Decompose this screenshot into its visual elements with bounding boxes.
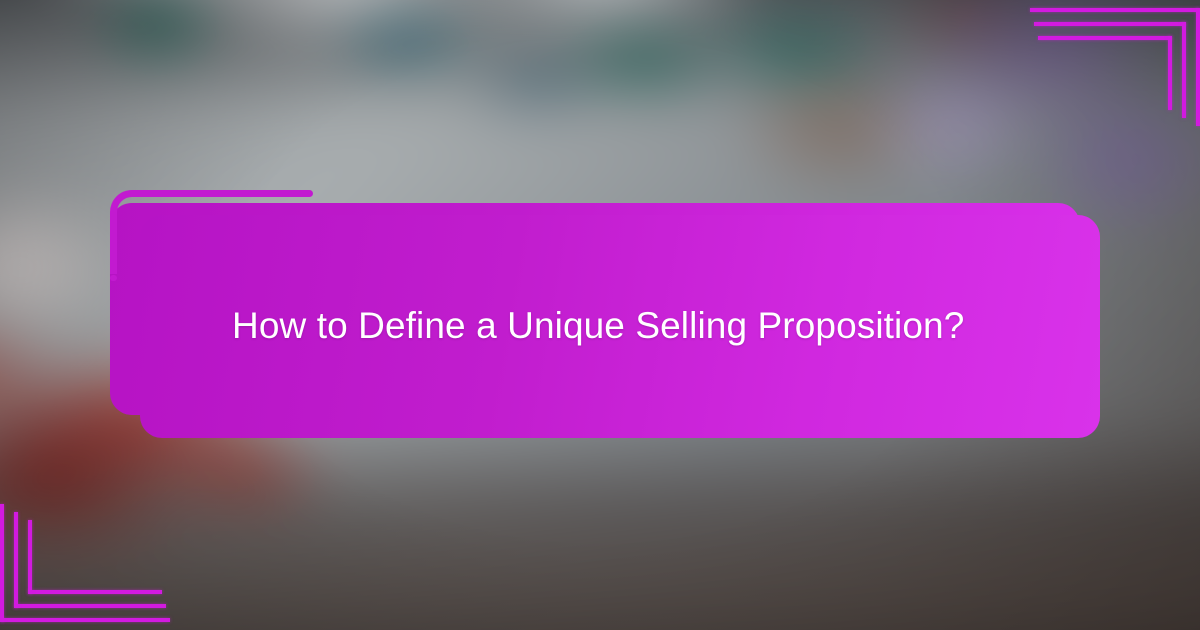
- page-title: How to Define a Unique Selling Propositi…: [140, 303, 1022, 349]
- card-front-layer: How to Define a Unique Selling Propositi…: [140, 215, 1100, 438]
- share-card-canvas: How to Define a Unique Selling Propositi…: [0, 0, 1200, 630]
